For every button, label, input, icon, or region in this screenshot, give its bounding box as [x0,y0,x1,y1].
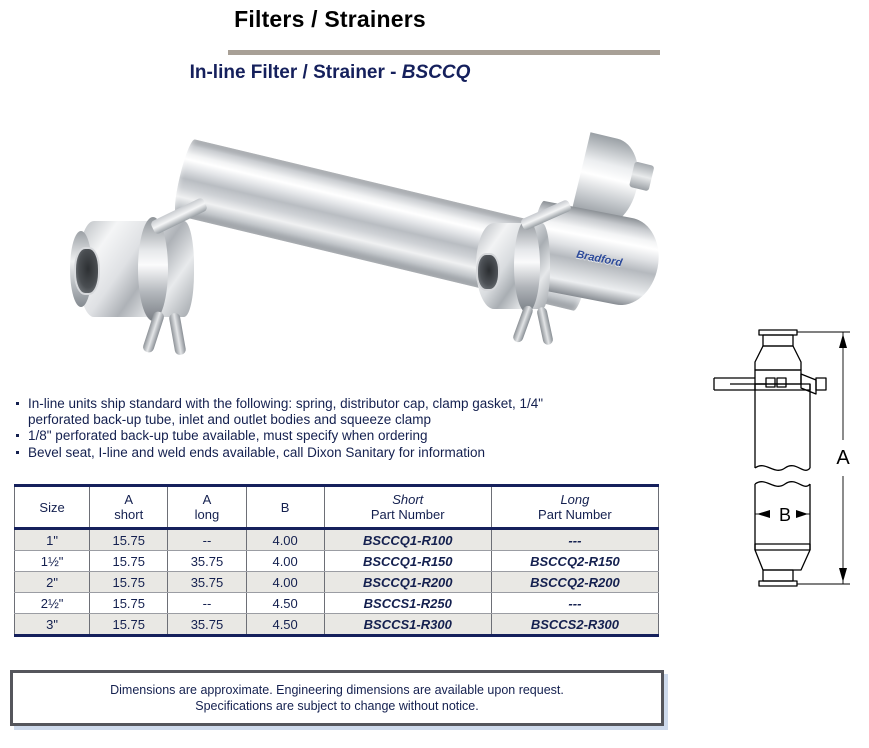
filter-support-leg [536,306,554,345]
cell-a-long: 35.75 [168,572,246,593]
cell-a-short: 15.75 [90,593,168,614]
cell-long-part-number: BSCCS2-R300 [491,614,658,636]
column-header-long-label: Long [492,492,658,507]
bullet-line-1: In-line units ship standard with the fol… [28,396,543,411]
bullet-dot-icon [16,402,19,405]
column-header-a-long-bottom: long [168,507,245,522]
column-header-a-long: A long [168,486,246,529]
column-header-short-sub: Part Number [325,507,491,522]
filter-support-leg [168,312,186,355]
arrow-a-top [839,334,847,348]
filter-clamp-ring [514,219,540,313]
cell-long-part-number: --- [491,529,658,551]
column-header-long-part-number: Long Part Number [491,486,658,529]
drawing-break-line-upper [755,466,810,471]
filter-inlet-bore [476,253,500,291]
column-header-a-short: A short [90,486,168,529]
cell-b: 4.00 [246,551,324,572]
column-header-a-short-top: A [90,492,167,507]
arrow-a-bottom [839,568,847,582]
cell-b: 4.00 [246,529,324,551]
disclaimer-box: Dimensions are approximate. Engineering … [10,670,664,726]
cell-long-part-number: BSCCQ2-R150 [491,551,658,572]
product-photo-area: Bradford [0,95,690,380]
list-item: Bevel seat, I-line and weld ends availab… [14,445,634,461]
cell-size: 2" [15,572,90,593]
column-header-a-long-top: A [168,492,245,507]
cell-a-long: 35.75 [168,614,246,636]
cell-short-part-number: BSCCS1-R250 [324,593,491,614]
bullet-dot-icon [16,434,19,437]
table-row: 1½" 15.75 35.75 4.00 BSCCQ1-R150 BSCCQ2-… [15,551,659,572]
column-header-long-sub: Part Number [492,507,658,522]
table-row: 2½" 15.75 -- 4.50 BSCCS1-R250 --- [15,593,659,614]
cell-size: 2½" [15,593,90,614]
bullet-line-1: Bevel seat, I-line and weld ends availab… [28,445,485,460]
dimension-label-a: A [836,447,850,469]
cell-long-part-number: BSCCQ2-R200 [491,572,658,593]
cell-a-short: 15.75 [90,551,168,572]
arrow-b-left [757,510,770,518]
cell-size: 1" [15,529,90,551]
drawing-top-ferrule-lip [759,330,797,335]
cell-short-part-number: BSCCQ1-R200 [324,572,491,593]
bullet-line-1: 1/8" perforated back-up tube available, … [28,428,428,443]
column-header-short-part-number: Short Part Number [324,486,491,529]
filter-clamp-ring [138,217,168,321]
subtitle-text: In-line Filter / Strainer - [190,62,402,83]
drawing-arrowheads [757,334,847,582]
filter-inlet-bore [74,247,100,295]
cell-size: 1½" [15,551,90,572]
page-title: Filters / Strainers [0,6,660,33]
cell-short-part-number: BSCCQ1-R100 [324,529,491,551]
drawing-barrel-bottom-band [755,544,810,550]
drawing-clamp-band [755,370,801,384]
cell-short-part-number: BSCCQ1-R150 [324,551,491,572]
product-subtitle: In-line Filter / Strainer - BSCCQ [0,62,660,84]
drawing-upper-taper [755,346,801,370]
dimension-drawing: A B [700,318,869,620]
list-item: 1/8" perforated back-up tube available, … [14,428,634,444]
subtitle-model-code: BSCCQ [402,62,471,83]
list-item: In-line units ship standard with the fol… [14,396,634,427]
cell-b: 4.00 [246,572,324,593]
drawing-break-line-lower [755,482,810,487]
table-row: 3" 15.75 35.75 4.50 BSCCS1-R300 BSCCS2-R… [15,614,659,636]
arrow-b-right [796,510,808,518]
drawing-top-ferrule [763,335,793,346]
table-row: 1" 15.75 -- 4.00 BSCCQ1-R100 --- [15,529,659,551]
table-header-row: Size A short A long B Short Part Number … [15,486,659,529]
disclaimer-text: Dimensions are approximate. Engineering … [110,682,564,714]
column-header-a-short-bottom: short [90,507,167,522]
disclaimer-line-2: Specifications are subject to change wit… [110,698,564,714]
bullet-dot-icon [16,451,19,454]
drawing-bottom-ferrule [763,570,793,581]
cell-a-short: 15.75 [90,572,168,593]
column-header-short-label: Short [325,492,491,507]
bullet-line-2: perforated back-up tube, inlet and outle… [28,412,634,428]
column-header-b: B [246,486,324,529]
drawing-clamp-nut [777,378,786,387]
table-row: 2" 15.75 35.75 4.00 BSCCQ1-R200 BSCCQ2-R… [15,572,659,593]
cell-size: 3" [15,614,90,636]
cell-a-long: 35.75 [168,551,246,572]
specification-table: Size A short A long B Short Part Number … [14,484,659,637]
cell-b: 4.50 [246,593,324,614]
drawing-bottom-ferrule-lip [759,581,797,586]
cell-long-part-number: --- [491,593,658,614]
cell-b: 4.50 [246,614,324,636]
title-divider-rule [228,50,660,55]
drawing-clamp-nut [766,378,775,387]
feature-bullet-list: In-line units ship standard with the fol… [14,396,634,461]
cell-a-short: 15.75 [90,529,168,551]
cell-a-long: -- [168,593,246,614]
product-photo-short-unit: Bradford [468,187,668,367]
cell-a-short: 15.75 [90,614,168,636]
dimension-drawing-svg: A B [700,318,869,620]
drawing-clamp-bracket-pad [816,378,826,390]
drawing-lower-taper [755,550,810,570]
cell-a-long: -- [168,529,246,551]
filter-support-leg [512,304,534,343]
column-header-size: Size [15,486,90,529]
disclaimer-line-1: Dimensions are approximate. Engineering … [110,682,564,698]
dimension-label-b: B [779,505,791,525]
cell-short-part-number: BSCCS1-R300 [324,614,491,636]
